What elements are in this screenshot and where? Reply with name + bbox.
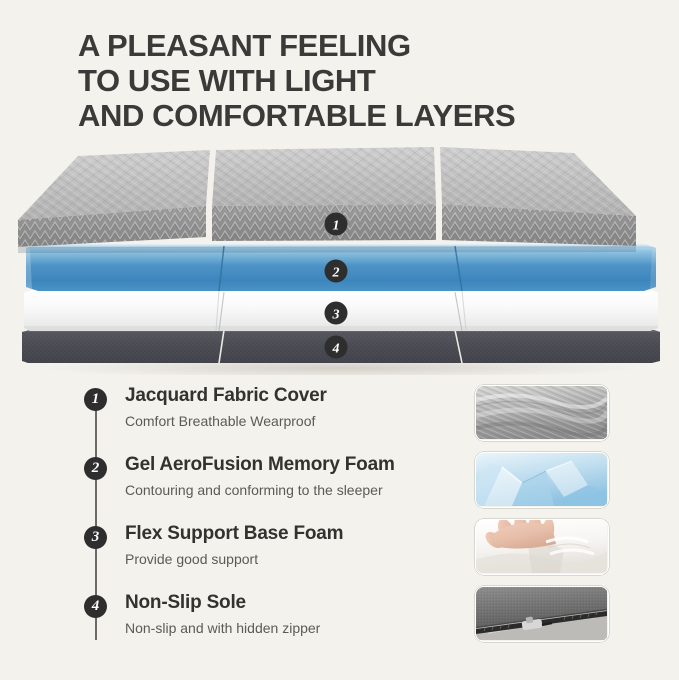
feature-subtitle-4: Non-slip and with hidden zipper [125,620,320,636]
thumbnail-jacquard-fabric[interactable] [475,385,609,441]
list-item[interactable]: 4 Non-Slip Sole Non-slip and with hidden… [84,595,454,664]
cover-segment-middle [212,147,436,241]
cover-segment-left [18,150,210,247]
diagram-badge-2: 2 [325,260,348,283]
feature-badge-1: 1 [84,388,107,411]
headline-line-2: TO USE WITH LIGHT [78,63,638,98]
diagram-badge-3-label: 3 [332,308,340,323]
feature-title-4: Non-Slip Sole [125,592,320,614]
layer-1-jacquard-cover [18,147,636,253]
thumbnail-column [475,385,609,653]
feature-badge-3: 3 [84,526,107,549]
feature-text-3: Flex Support Base Foam Provide good supp… [125,523,343,567]
thumbnail-gel-foam[interactable] [475,452,609,508]
thumbnail-hidden-zipper[interactable] [475,586,609,642]
exploded-mattress-diagram: 1 2 3 4 [0,140,679,375]
diagram-badge-1-label: 1 [333,219,340,234]
diagram-badge-2-label: 2 [332,266,340,281]
feature-title-1: Jacquard Fabric Cover [125,385,327,407]
list-item[interactable]: 3 Flex Support Base Foam Provide good su… [84,526,454,595]
list-item[interactable]: 2 Gel AeroFusion Memory Foam Contouring … [84,457,454,526]
feature-title-3: Flex Support Base Foam [125,523,343,545]
feature-subtitle-1: Comfort Breathable Wearproof [125,413,327,429]
cover-segment-right [440,147,636,246]
diagram-badge-1: 1 [325,213,348,236]
feature-badge-4: 4 [84,595,107,618]
headline-line-1: A PLEASANT FEELING [78,28,638,63]
list-item[interactable]: 1 Jacquard Fabric Cover Comfort Breathab… [84,388,454,457]
feature-text-1: Jacquard Fabric Cover Comfort Breathable… [125,385,327,429]
diagram-badge-4-label: 4 [332,342,340,357]
feature-text-2: Gel AeroFusion Memory Foam Contouring an… [125,454,395,498]
feature-badge-2: 2 [84,457,107,480]
diagram-badge-4: 4 [325,336,348,359]
feature-text-4: Non-Slip Sole Non-slip and with hidden z… [125,592,320,636]
feature-title-2: Gel AeroFusion Memory Foam [125,454,395,476]
feature-list: 1 Jacquard Fabric Cover Comfort Breathab… [84,388,454,664]
headline-line-3: AND COMFORTABLE LAYERS [78,98,638,133]
feature-subtitle-3: Provide good support [125,551,343,567]
feature-subtitle-2: Contouring and conforming to the sleeper [125,482,395,498]
page-title: A PLEASANT FEELING TO USE WITH LIGHT AND… [78,28,638,133]
thumbnail-hand-on-foam[interactable] [475,519,609,575]
diagram-badge-3: 3 [325,302,348,325]
